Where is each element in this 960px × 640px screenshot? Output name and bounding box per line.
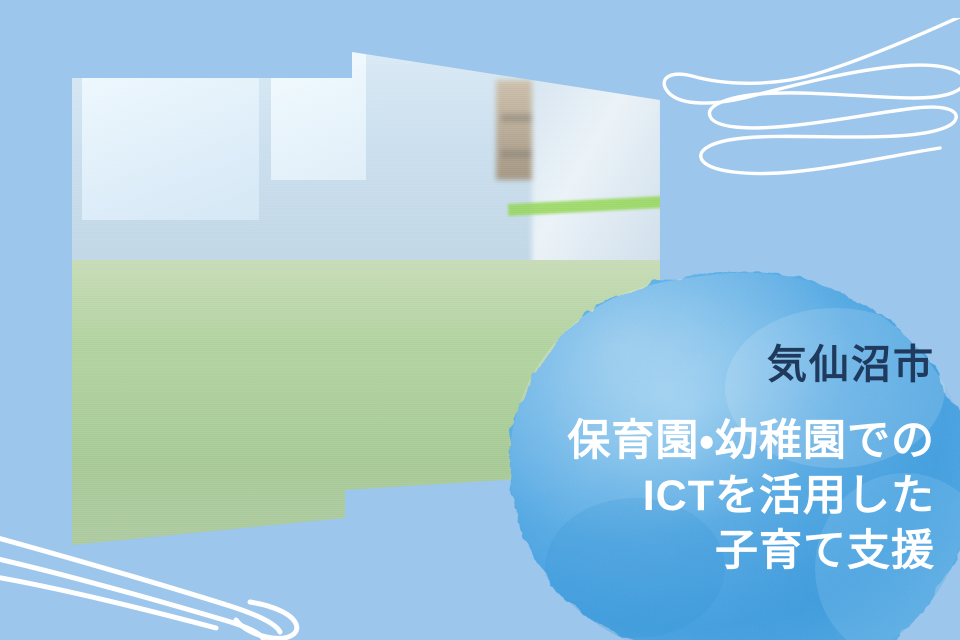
photo-window <box>82 70 260 220</box>
slide-canvas: 気仙沼市 保育園・幼稚園での ICTを活用した 子育て支援 <box>0 0 960 640</box>
city-label: 気仙沼市 <box>767 345 935 385</box>
page-title: 保育園・幼稚園での ICTを活用した 子育て支援 <box>375 414 935 579</box>
page-title-line-2: ICTを活用した <box>375 469 935 524</box>
page-title-line-3: 子育て支援 <box>375 524 935 579</box>
photo-window-2 <box>271 50 366 180</box>
scribble-decoration-icon <box>648 18 960 188</box>
page-title-line-1: 保育園・幼稚園での <box>375 414 935 469</box>
